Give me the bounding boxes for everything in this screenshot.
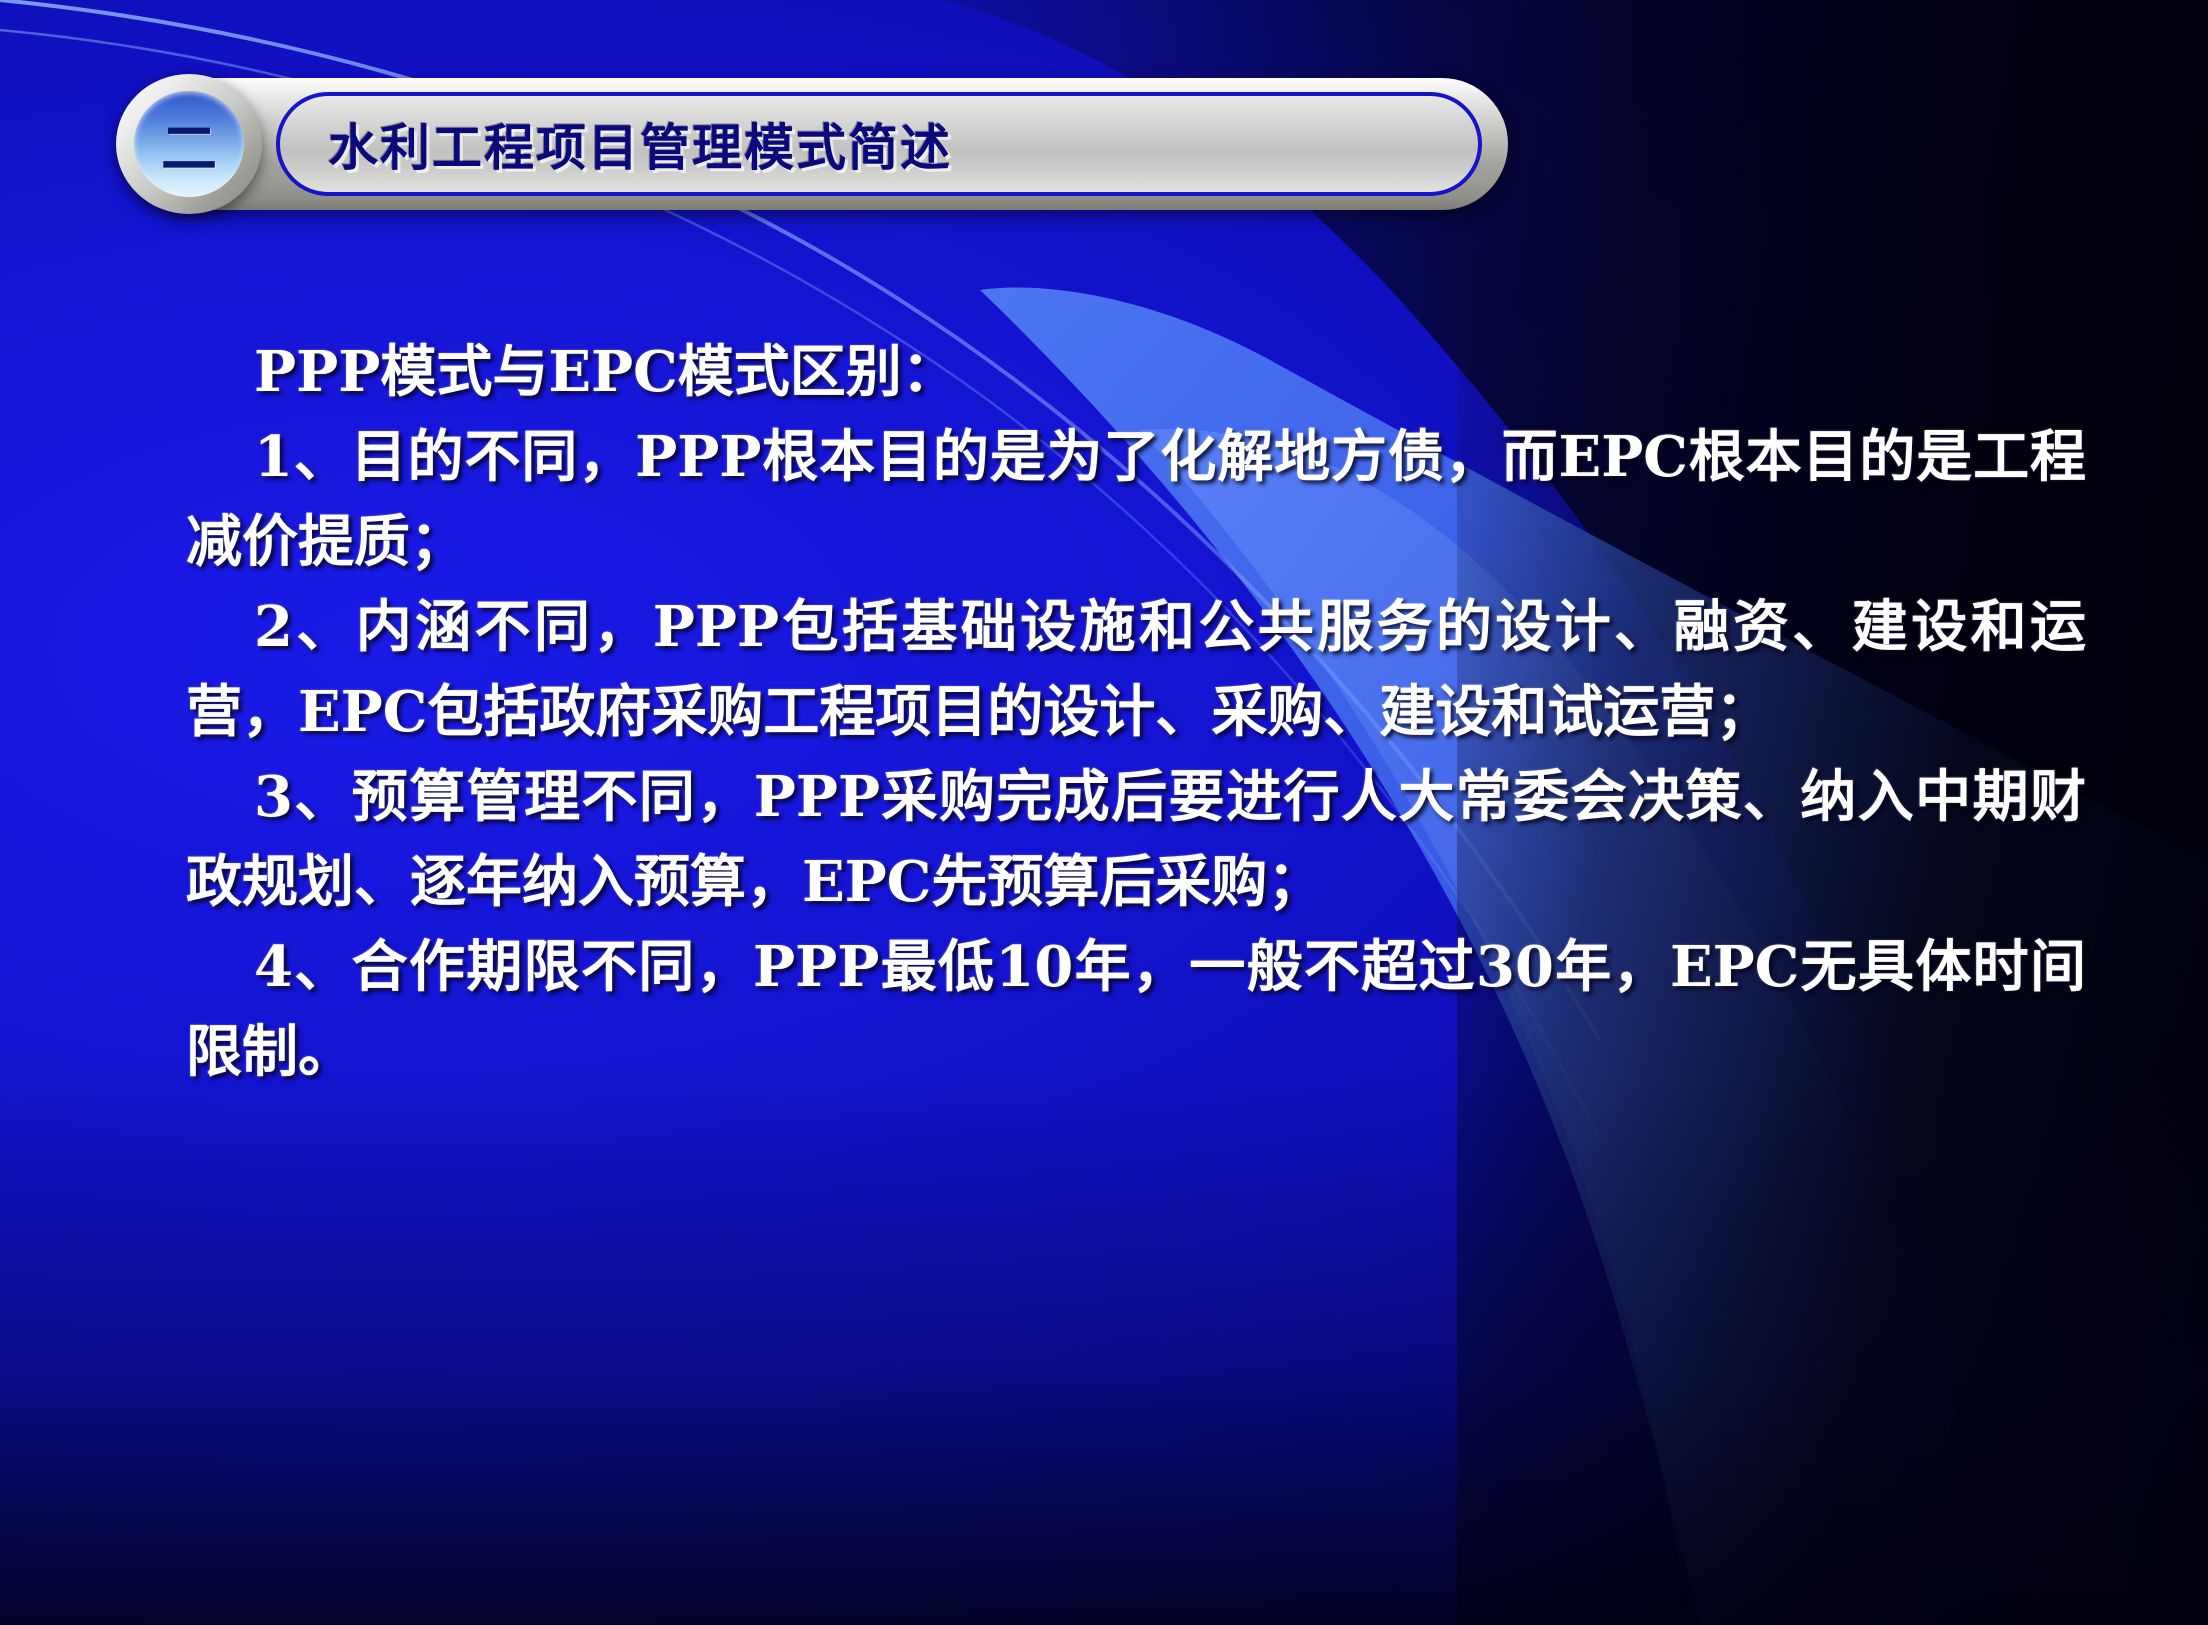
slide-body: PPP模式与EPC模式区别： 1、目的不同，PPP根本目的是为了化解地方债，而E… [186, 330, 2086, 1095]
presentation-slide: 二 水利工程项目管理模式简述 PPP模式与EPC模式区别： 1、目的不同，PPP… [0, 0, 2208, 1625]
slide-title-banner: 二 水利工程项目管理模式简述 [128, 78, 1508, 210]
body-item-2: 2、内涵不同，PPP包括基础设施和公共服务的设计、融资、建设和运营，EPC包括政… [186, 585, 2086, 755]
page-title: 水利工程项目管理模式简述 [328, 108, 952, 180]
background-bottom-shade [0, 1073, 2208, 1625]
body-item-3: 3、预算管理不同，PPP采购完成后要进行人大常委会决策、纳入中期财政规划、逐年纳… [186, 755, 2086, 925]
badge-number-glyph: 二 [134, 91, 244, 197]
body-item-4: 4、合作期限不同，PPP最低10年，一般不超过30年，EPC无具体时间限制。 [186, 925, 2086, 1095]
body-heading: PPP模式与EPC模式区别： [186, 330, 2086, 415]
section-number-badge: 二 [116, 74, 262, 214]
badge-inner-circle: 二 [134, 91, 244, 197]
body-item-1: 1、目的不同，PPP根本目的是为了化解地方债，而EPC根本目的是工程减价提质； [186, 415, 2086, 585]
